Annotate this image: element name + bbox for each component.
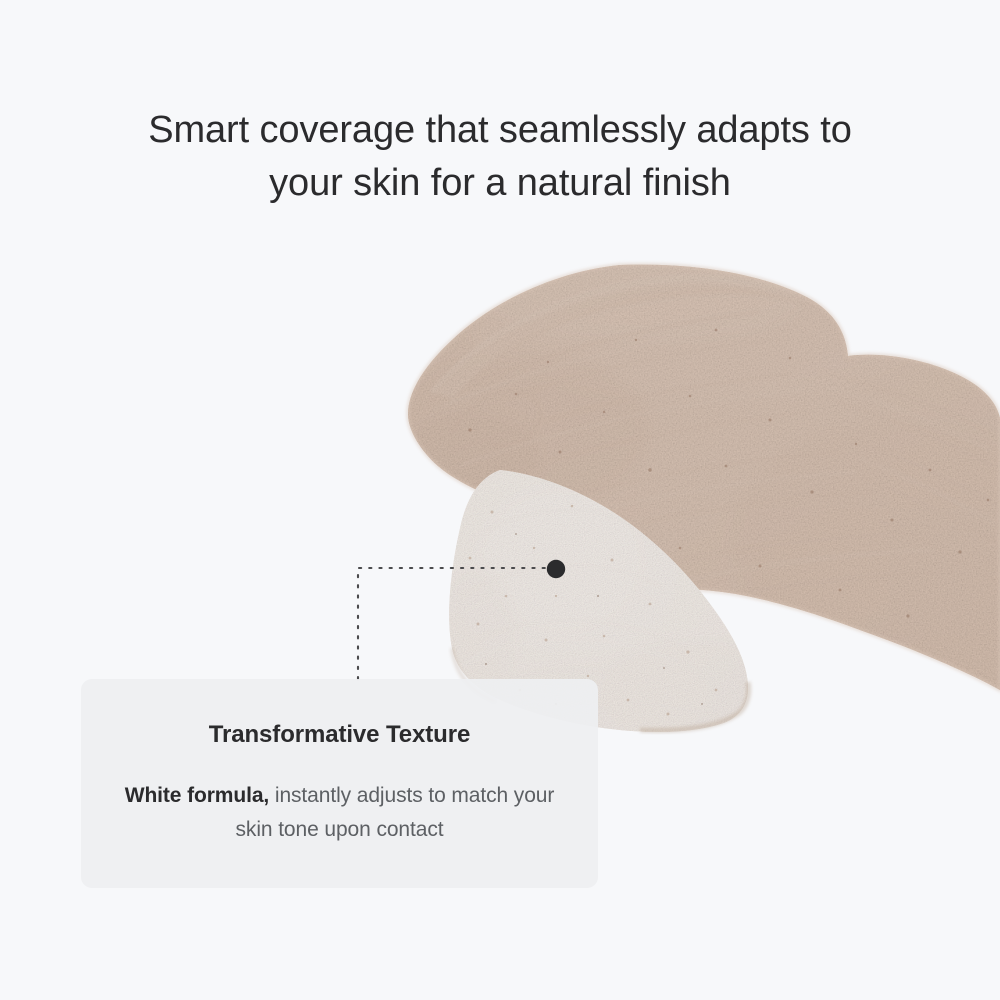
callout-card: Transformative Texture White formula, in…	[81, 679, 598, 888]
annotation-dot-wrap	[538, 551, 574, 587]
headline-line-2: your skin for a natural finish	[0, 157, 1000, 210]
leader-dotted-path	[358, 568, 555, 683]
callout-body: White formula, instantly adjusts to matc…	[109, 779, 570, 847]
marketing-graphic: Smart coverage that seamlessly adapts to…	[0, 0, 1000, 1000]
headline-line-1: Smart coverage that seamlessly adapts to	[0, 104, 1000, 157]
annotation-dot	[547, 560, 565, 578]
page-headline: Smart coverage that seamlessly adapts to…	[0, 104, 1000, 210]
callout-body-emphasis: White formula,	[125, 784, 269, 807]
callout-body-rest: instantly adjusts to match your skin ton…	[236, 784, 555, 841]
callout-title: Transformative Texture	[81, 721, 598, 749]
